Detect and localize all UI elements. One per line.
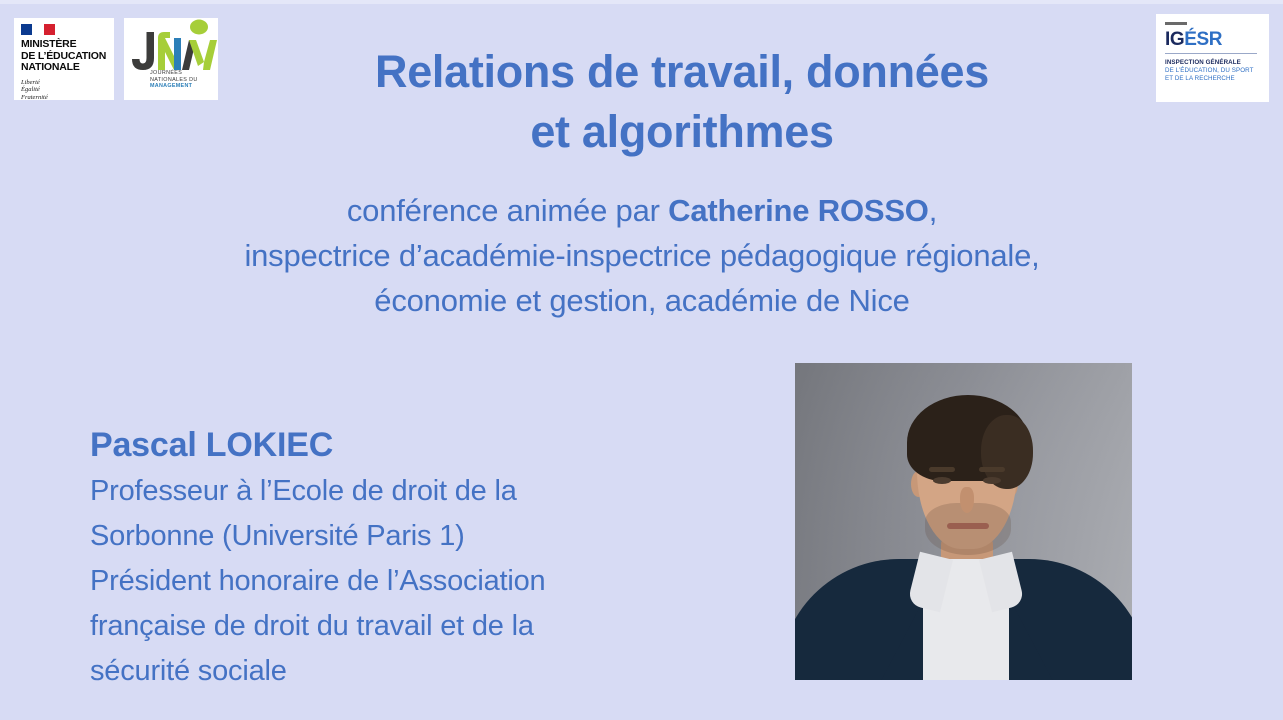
igesr-subtitle-rest: DE L’ÉDUCATION, DU SPORT ET DE LA RECHER… bbox=[1165, 67, 1253, 82]
subtitle-line-3: économie et gestion, académie de Nice bbox=[152, 278, 1132, 323]
portrait-mouth bbox=[947, 523, 989, 529]
speaker-info-block: Pascal LOKIEC Professeur à l’Ecole de dr… bbox=[90, 421, 750, 694]
speaker-name: Pascal LOKIEC bbox=[90, 421, 750, 469]
french-flag-icon bbox=[21, 24, 55, 35]
slide-subtitle: conférence animée par Catherine ROSSO, i… bbox=[152, 188, 1132, 323]
portrait-eyebrow-right bbox=[979, 467, 1005, 472]
portrait-eye-left bbox=[933, 477, 951, 484]
jnm-caption-lines: JOURNÉES NATIONALES DU bbox=[150, 70, 198, 83]
igesr-top-rule bbox=[1165, 22, 1187, 25]
jnm-caption-bold: MANAGEMENT bbox=[150, 83, 192, 89]
subtitle-trailing-comma: , bbox=[929, 193, 937, 228]
portrait-eye-right bbox=[983, 477, 1001, 484]
ministere-logo-title: MINISTÈRE DE L’ÉDUCATION NATIONALE bbox=[21, 39, 107, 74]
speaker-portrait-photo bbox=[795, 363, 1132, 680]
jnm-logo-caption: JOURNÉES NATIONALES DU MANAGEMENT bbox=[150, 70, 218, 90]
ministere-education-nationale-logo: MINISTÈRE DE L’ÉDUCATION NATIONALE Liber… bbox=[14, 18, 114, 100]
igesr-logo: IGÉSR INSPECTION GÉNÉRALE DE L’ÉDUCATION… bbox=[1156, 14, 1269, 102]
jnm-monogram-icon bbox=[124, 18, 218, 78]
subtitle-line-2: inspectrice d’académie-inspectrice pédag… bbox=[152, 233, 1132, 278]
slide-title: Relations de travail, données et algorit… bbox=[232, 42, 1132, 162]
slide-top-edge-strip bbox=[0, 0, 1283, 4]
ministere-logo-motto: Liberté Égalité Fraternité bbox=[21, 79, 107, 101]
portrait-eyebrow-left bbox=[929, 467, 955, 472]
igesr-divider-rule bbox=[1165, 53, 1257, 54]
igesr-wordmark-esr: ÉSR bbox=[1184, 29, 1222, 50]
igesr-subtitle: INSPECTION GÉNÉRALE DE L’ÉDUCATION, DU S… bbox=[1165, 59, 1260, 84]
subtitle-lead-text: conférence animée par bbox=[347, 193, 668, 228]
igesr-wordmark-ig: IG bbox=[1165, 29, 1184, 50]
moderator-name: Catherine ROSSO bbox=[668, 193, 929, 228]
subtitle-line-1: conférence animée par Catherine ROSSO, bbox=[152, 188, 1132, 233]
igesr-wordmark: IGÉSR bbox=[1165, 30, 1260, 50]
presentation-slide: MINISTÈRE DE L’ÉDUCATION NATIONALE Liber… bbox=[0, 0, 1283, 720]
journees-nationales-du-management-logo: JOURNÉES NATIONALES DU MANAGEMENT bbox=[124, 18, 218, 100]
portrait-nose bbox=[960, 487, 974, 513]
speaker-bio: Professeur à l’Ecole de droit de la Sorb… bbox=[90, 469, 750, 694]
igesr-subtitle-bold: INSPECTION GÉNÉRALE bbox=[1165, 59, 1241, 66]
